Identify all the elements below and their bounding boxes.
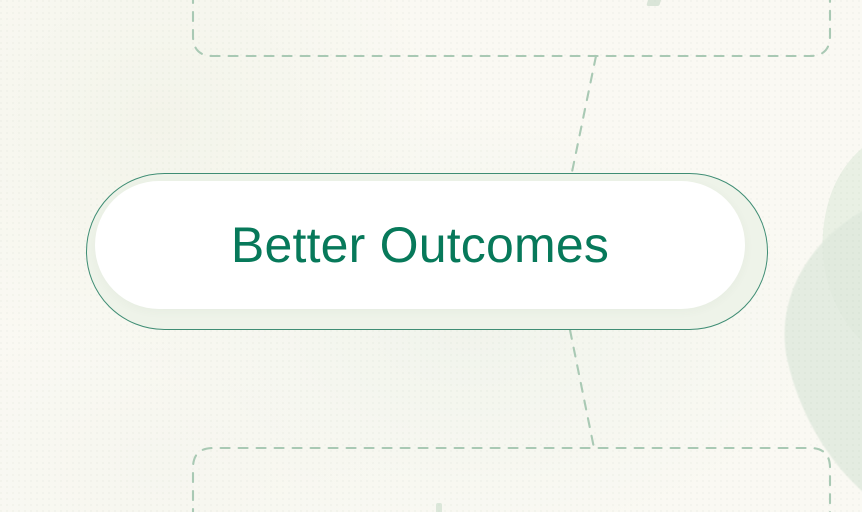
- background-wash-bottom-left: [0, 300, 400, 512]
- canvas: Better Outcomes: [0, 0, 862, 512]
- connector-top: [572, 56, 596, 172]
- clipped-mark-top-icon: [646, 0, 662, 6]
- decorative-blob-right: [757, 153, 862, 512]
- connector-bottom: [570, 330, 594, 448]
- decorative-blob-right-light: [787, 92, 862, 398]
- center-pill-node[interactable]: Better Outcomes: [86, 173, 768, 330]
- clipped-mark-bottom-icon: [436, 503, 442, 512]
- top-dashed-container: [193, 0, 830, 56]
- pill-label: Better Outcomes: [95, 181, 745, 309]
- bottom-dashed-container: [193, 448, 830, 512]
